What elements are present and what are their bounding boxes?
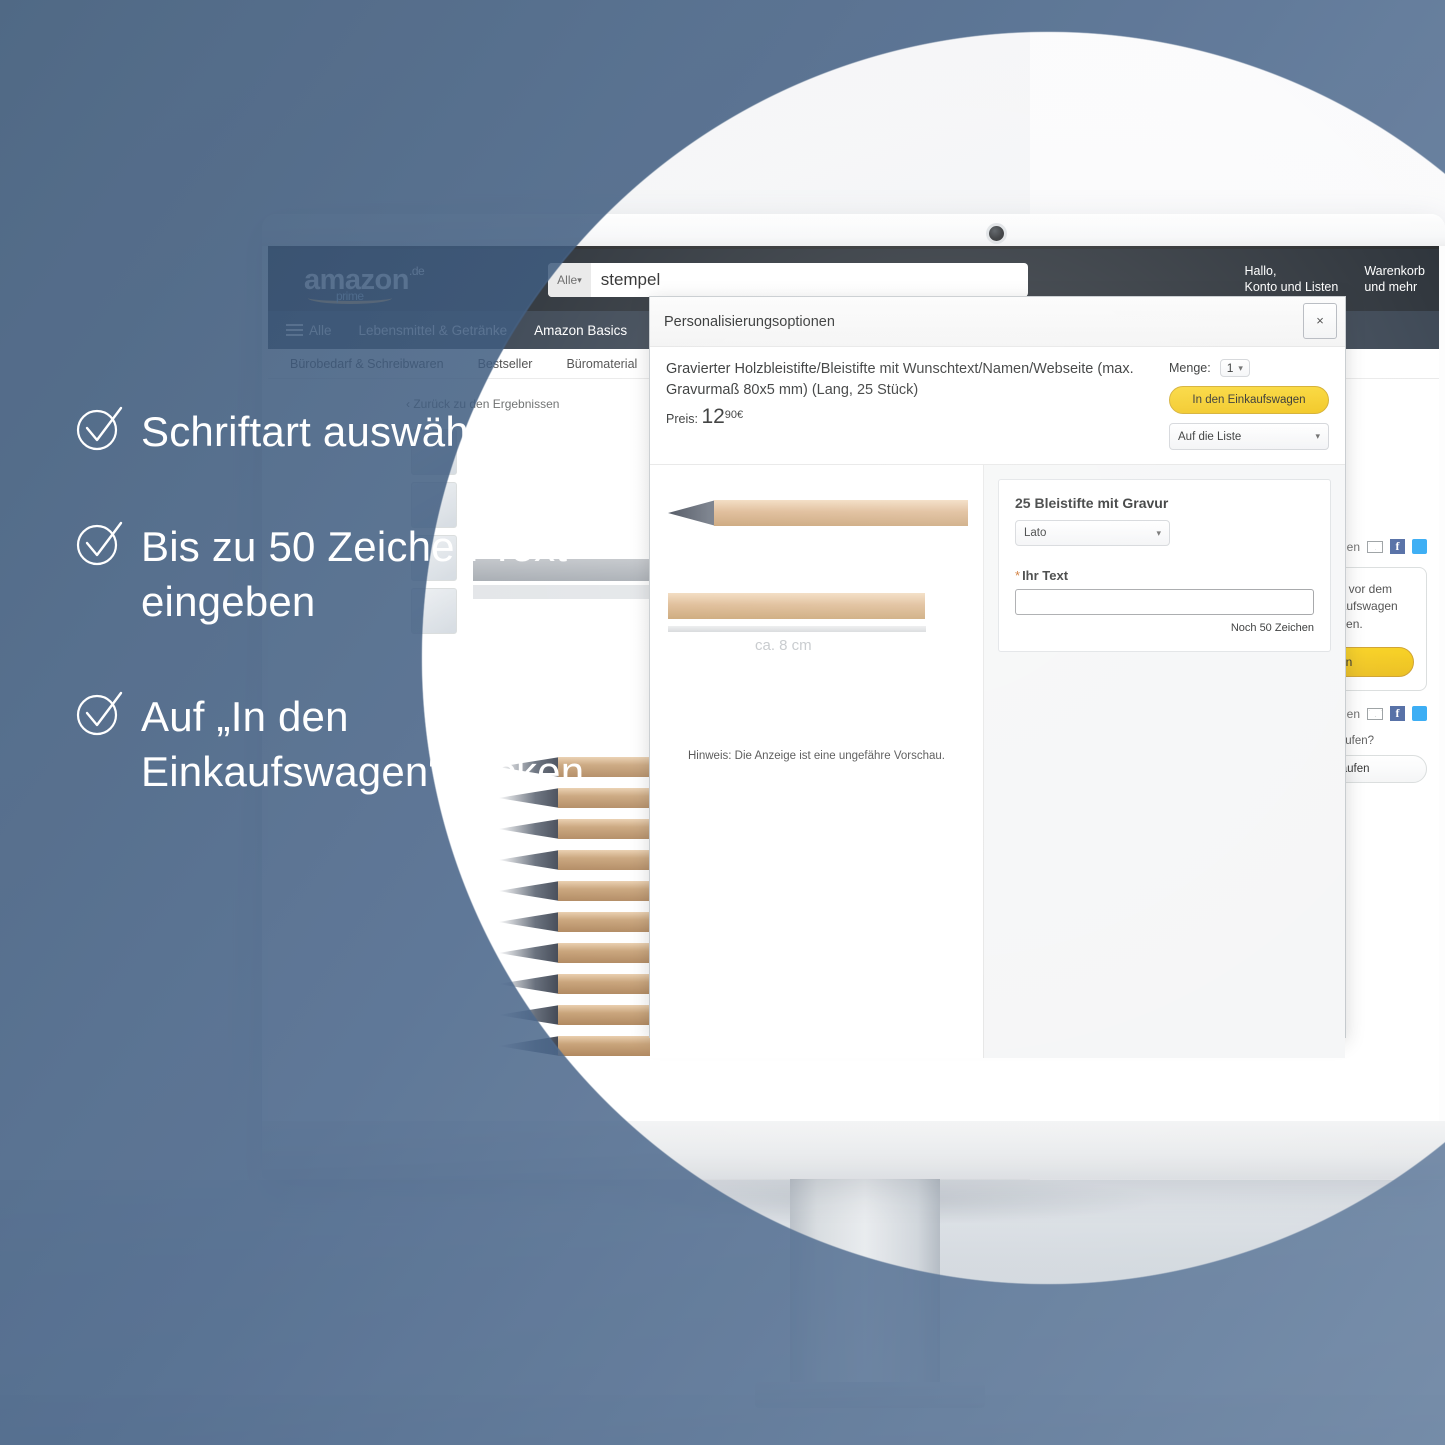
account-menu[interactable]: Hallo, Konto und Listen (1245, 264, 1339, 295)
quantity-label: Menge: (1169, 361, 1211, 375)
options-heading: 25 Bleistifte mit Gravur (1015, 495, 1314, 511)
search-input[interactable]: stempel (591, 270, 671, 290)
custom-text-label: *Ihr Text (1015, 568, 1314, 583)
modal-product-summary: Gravierter Holzbleistifte/Bleistifte mit… (650, 347, 1345, 465)
list-item: Bis zu 50 Zeichen Text eingeben (76, 519, 596, 630)
modal-product-price: Preis: 1290€ (666, 405, 1155, 429)
sidebar-menu-button[interactable]: Alle (286, 323, 332, 338)
modal-title: Personalisierungsoptionen (664, 314, 835, 330)
monitor-bottom-bezel (262, 1121, 1445, 1179)
nav-item-amazon-basics[interactable]: Amazon Basics (534, 323, 627, 338)
search-scope-select[interactable]: Alle ▾ (548, 263, 591, 297)
modal-purchase-controls: Menge: 1 ▾ In den Einkaufswagen Auf die … (1169, 359, 1329, 450)
modal-product-title: Gravierter Holzbleistifte/Bleistifte mit… (666, 359, 1155, 400)
check-circle-icon (76, 519, 128, 575)
engraving-options-pane: 25 Bleistifte mit Gravur Lato ▾ *Ihr Tex… (984, 465, 1345, 1058)
chevron-down-icon: ▾ (577, 275, 582, 286)
mail-icon[interactable] (1367, 708, 1383, 720)
engraving-preview-pane: ca. 8 cm Hinweis: Die Anzeige ist eine u… (650, 465, 984, 1058)
nav-item-alle: Alle (309, 323, 332, 338)
list-item-label: Bis zu 50 Zeichen Text eingeben (141, 519, 596, 630)
list-item: Auf „In den Einkaufswagen“ klicken (76, 689, 596, 800)
search-bar[interactable]: Alle ▾ stempel (548, 263, 1028, 297)
monitor-stand-neck (790, 1165, 940, 1400)
custom-text-label-text: Ihr Text (1022, 568, 1068, 583)
price-cents: 90 (725, 409, 737, 421)
add-to-cart-button[interactable]: In den Einkaufswagen (1169, 386, 1329, 414)
facebook-icon[interactable]: f (1390, 706, 1405, 721)
pencil-body-shape (714, 500, 968, 526)
mail-icon[interactable] (1367, 541, 1383, 553)
modal-header: Personalisierungsoptionen × (650, 297, 1345, 347)
webcam-icon (989, 226, 1004, 241)
feature-callout-list: Schriftart auswählen Bis zu 50 Zeichen T… (76, 404, 596, 800)
close-icon[interactable]: × (1303, 303, 1337, 339)
monitor-stand-base (755, 1382, 985, 1408)
price-currency: € (737, 409, 743, 421)
engraving-options-card: 25 Bleistifte mit Gravur Lato ▾ *Ihr Tex… (998, 479, 1331, 652)
add-to-list-label: Auf die Liste (1178, 431, 1241, 443)
chevron-down-icon: ▾ (1238, 363, 1243, 374)
pencil-tip-shape (668, 500, 716, 526)
font-select-value: Lato (1024, 527, 1046, 539)
subnav-item-bestseller[interactable]: Bestseller (478, 357, 533, 371)
font-select[interactable]: Lato ▾ (1015, 520, 1170, 546)
hamburger-icon (286, 324, 303, 336)
subnav-item-buerobedarf[interactable]: Bürobedarf & Schreibwaren (290, 357, 444, 371)
list-item: Schriftart auswählen (76, 404, 596, 460)
pencil-preview-engraving-area (668, 593, 925, 619)
facebook-icon[interactable]: f (1390, 539, 1405, 554)
modal-product-info: Gravierter Holzbleistifte/Bleistifte mit… (666, 359, 1169, 450)
measure-label: ca. 8 cm (755, 637, 812, 654)
amazon-logo[interactable]: amazon.de prime (304, 264, 424, 297)
measure-rule (668, 626, 926, 632)
twitter-icon[interactable] (1412, 706, 1427, 721)
twitter-icon[interactable] (1412, 539, 1427, 554)
add-to-list-button[interactable]: Auf die Liste ▾ (1169, 423, 1329, 450)
subnav-item-buromaterial[interactable]: Büromaterial (566, 357, 637, 371)
personalization-modal: Personalisierungsoptionen × Gravierter H… (649, 296, 1346, 1038)
preview-hint-text: Hinweis: Die Anzeige ist eine ungefähre … (650, 750, 983, 762)
quantity-row: Menge: 1 ▾ (1169, 359, 1329, 377)
custom-text-input[interactable] (1015, 589, 1314, 615)
search-scope-label: Alle (557, 273, 577, 287)
list-item-label: Schriftart auswählen (141, 404, 526, 459)
amazon-logo-tld: .de (409, 264, 424, 278)
quantity-stepper[interactable]: 1 ▾ (1220, 359, 1250, 377)
list-item-label: Auf „In den Einkaufswagen“ klicken (141, 689, 596, 800)
price-amount: 12 (701, 405, 724, 428)
required-marker: * (1015, 568, 1020, 583)
modal-body: ca. 8 cm Hinweis: Die Anzeige ist eine u… (650, 465, 1345, 1058)
pencil-preview-long (668, 500, 968, 526)
price-label: Preis: (666, 412, 698, 426)
monitor-top-bezel (262, 214, 1445, 246)
chevron-down-icon: ▾ (1156, 528, 1161, 539)
chevron-down-icon: ▾ (1315, 431, 1320, 442)
nav-item-lebensmittel[interactable]: Lebensmittel & Getränke (359, 323, 508, 338)
cart-link[interactable]: Warenkorb und mehr (1364, 264, 1425, 295)
quantity-value: 1 (1227, 361, 1234, 375)
amazon-prime-label: prime (336, 289, 364, 303)
check-circle-icon (76, 404, 128, 460)
check-circle-icon (76, 689, 128, 745)
chars-remaining-counter: Noch 50 Zeichen (1015, 622, 1314, 634)
desk-front-edge (0, 1395, 1445, 1445)
